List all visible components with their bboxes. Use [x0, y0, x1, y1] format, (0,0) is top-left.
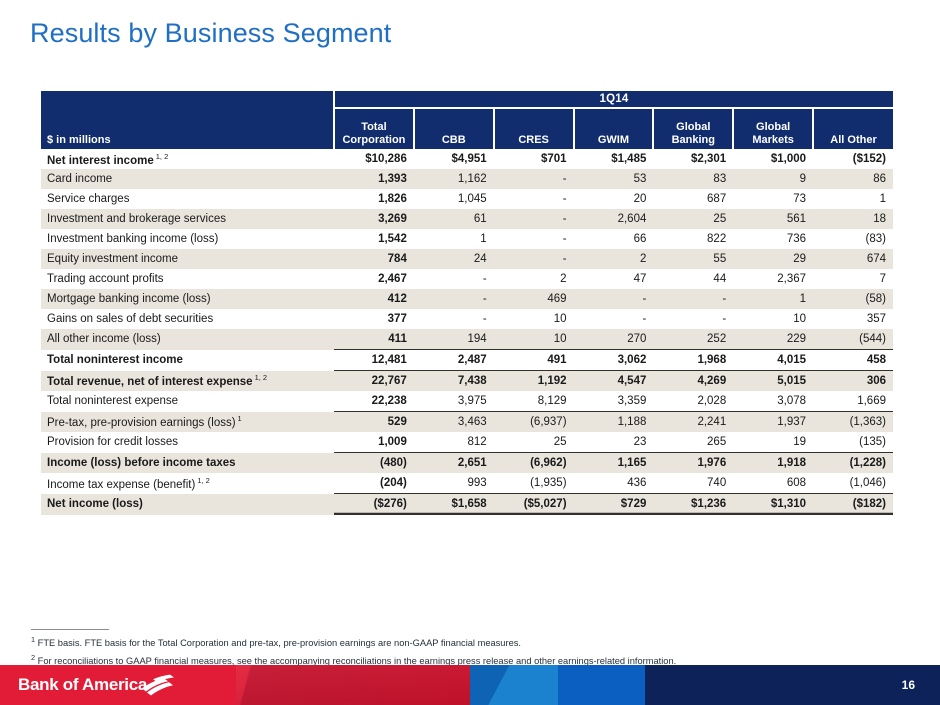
table-cell: 252: [653, 329, 733, 350]
table-cell: 2,487: [414, 350, 494, 371]
table-cell: 822: [653, 229, 733, 249]
table-row: Service charges1,8261,045-20687731: [41, 189, 893, 209]
table-cell: 3,975: [414, 391, 494, 412]
table-row: Investment banking income (loss)1,5421-6…: [41, 229, 893, 249]
table-cell: 3,269: [334, 209, 414, 229]
table-cell: 29: [733, 249, 813, 269]
row-label-footnote-marker: 1, 2: [197, 476, 210, 485]
table-cell: 19: [733, 432, 813, 453]
table-header: 1Q14 $ in millions Total Corporation CBB…: [41, 91, 893, 149]
row-label: Net income (loss): [41, 494, 334, 515]
table-cell: (544): [813, 329, 893, 350]
table-row: Trading account profits2,467-247442,3677: [41, 269, 893, 289]
table-cell: 4,269: [653, 371, 733, 392]
table-cell: 2: [574, 249, 654, 269]
table-cell: 736: [733, 229, 813, 249]
table-cell: (135): [813, 432, 893, 453]
table-row: Income (loss) before income taxes(480)2,…: [41, 453, 893, 474]
header-spacer-cell: [41, 91, 334, 108]
table-cell: ($276): [334, 494, 414, 515]
table-cell: 608: [733, 473, 813, 494]
table-cell: 25: [494, 432, 574, 453]
table-cell: ($5,027): [494, 494, 574, 515]
table-row: Total noninterest expense22,2383,9758,12…: [41, 391, 893, 412]
page-title: Results by Business Segment: [30, 18, 391, 49]
table-cell: 5,015: [733, 371, 813, 392]
bank-of-america-flagscape-icon: [140, 674, 178, 696]
table-cell: 687: [653, 189, 733, 209]
table-cell: 194: [414, 329, 494, 350]
footnote-divider: [31, 629, 109, 630]
table-header-columns-row: $ in millions Total Corporation CBB CRES…: [41, 108, 893, 149]
slide-footer: Bank of America 16: [0, 665, 940, 705]
column-header-global-markets: Global Markets: [733, 108, 813, 149]
row-label: Mortgage banking income (loss): [41, 289, 334, 309]
table-cell: 22,767: [334, 371, 414, 392]
table-cell: 357: [813, 309, 893, 329]
row-label-footnote-marker: 1, 2: [255, 373, 268, 382]
table-row: Equity investment income78424-25529674: [41, 249, 893, 269]
table-cell: 25: [653, 209, 733, 229]
table-cell: (58): [813, 289, 893, 309]
footnote-1-marker: 1: [31, 635, 35, 644]
table-cell: 7,438: [414, 371, 494, 392]
table-cell: 1: [414, 229, 494, 249]
table-cell: $1,000: [733, 149, 813, 169]
column-header-all-other: All Other: [813, 108, 893, 149]
table-cell: 12,481: [334, 350, 414, 371]
table-cell: 55: [653, 249, 733, 269]
table-cell: (1,228): [813, 453, 893, 474]
row-label: Total noninterest income: [41, 350, 334, 371]
table-cell: 1,188: [574, 412, 654, 433]
table-cell: 1,192: [494, 371, 574, 392]
table-cell: -: [574, 309, 654, 329]
table-cell: 2,467: [334, 269, 414, 289]
table-cell: -: [653, 309, 733, 329]
table-cell: 377: [334, 309, 414, 329]
column-header-cres: CRES: [494, 108, 574, 149]
table-cell: 73: [733, 189, 813, 209]
table-cell: -: [494, 249, 574, 269]
table-cell: -: [494, 189, 574, 209]
table-row: Total revenue, net of interest expense1,…: [41, 371, 893, 392]
footnote-2-marker: 2: [31, 653, 35, 662]
table-cell: $4,951: [414, 149, 494, 169]
table-cell: 1: [733, 289, 813, 309]
table-cell: 2,367: [733, 269, 813, 289]
table-cell: 1,976: [653, 453, 733, 474]
table-cell: 86: [813, 169, 893, 189]
table-cell: (1,363): [813, 412, 893, 433]
table-cell: 2,651: [414, 453, 494, 474]
table-cell: 812: [414, 432, 494, 453]
row-label: Income (loss) before income taxes: [41, 453, 334, 474]
table-cell: 674: [813, 249, 893, 269]
row-label: Total noninterest expense: [41, 391, 334, 412]
table-cell: 491: [494, 350, 574, 371]
table-cell: 3,463: [414, 412, 494, 433]
table-cell: 3,078: [733, 391, 813, 412]
table-cell: 265: [653, 432, 733, 453]
table-cell: 4,015: [733, 350, 813, 371]
table-row: Investment and brokerage services3,26961…: [41, 209, 893, 229]
table-cell: -: [414, 269, 494, 289]
table-header-period-row: 1Q14: [41, 91, 893, 108]
table-cell: (204): [334, 473, 414, 494]
footer-band-medium-blue: [558, 665, 645, 705]
table-cell: (6,937): [494, 412, 574, 433]
table-cell: $701: [494, 149, 574, 169]
table-row: Card income1,3931,162-5383986: [41, 169, 893, 189]
footer-band-navy: [645, 665, 940, 705]
segment-results-table-wrapper: 1Q14 $ in millions Total Corporation CBB…: [41, 91, 893, 515]
table-cell: 3,062: [574, 350, 654, 371]
row-label: Investment and brokerage services: [41, 209, 334, 229]
table-cell: -: [494, 229, 574, 249]
brand-wordmark: Bank of America: [18, 675, 147, 695]
table-cell: 993: [414, 473, 494, 494]
period-header: 1Q14: [334, 91, 893, 108]
row-label: Income tax expense (benefit)1, 2: [41, 473, 334, 494]
column-header-global-banking: Global Banking: [653, 108, 733, 149]
table-cell: 1,542: [334, 229, 414, 249]
row-label: Provision for credit losses: [41, 432, 334, 453]
table-cell: 7: [813, 269, 893, 289]
table-row: Net interest income1, 2$10,286$4,951$701…: [41, 149, 893, 169]
table-cell: 1,009: [334, 432, 414, 453]
table-cell: 1,826: [334, 189, 414, 209]
table-cell: 411: [334, 329, 414, 350]
table-cell: 270: [574, 329, 654, 350]
table-cell: 1,162: [414, 169, 494, 189]
table-cell: -: [494, 169, 574, 189]
table-cell: $10,286: [334, 149, 414, 169]
table-cell: $2,301: [653, 149, 733, 169]
table-cell: 61: [414, 209, 494, 229]
row-label: Total revenue, net of interest expense1,…: [41, 371, 334, 392]
table-cell: 24: [414, 249, 494, 269]
row-label: All other income (loss): [41, 329, 334, 350]
table-cell: 2,028: [653, 391, 733, 412]
row-label: Trading account profits: [41, 269, 334, 289]
row-label: Equity investment income: [41, 249, 334, 269]
table-cell: 1,045: [414, 189, 494, 209]
table-cell: 10: [494, 329, 574, 350]
table-row: Total noninterest income12,4812,4874913,…: [41, 350, 893, 371]
row-label-footnote-marker: 1, 2: [156, 152, 169, 161]
table-cell: 1,669: [813, 391, 893, 412]
table-cell: (1,935): [494, 473, 574, 494]
footer-band-light-blue-overlay: [470, 665, 558, 705]
table-cell: ($152): [813, 149, 893, 169]
table-cell: 44: [653, 269, 733, 289]
table-cell: 22,238: [334, 391, 414, 412]
table-cell: $1,658: [414, 494, 494, 515]
table-row: Mortgage banking income (loss)412-469--1…: [41, 289, 893, 309]
table-cell: 561: [733, 209, 813, 229]
table-cell: 83: [653, 169, 733, 189]
table-row: Net income (loss)($276)$1,658($5,027)$72…: [41, 494, 893, 515]
table-cell: $1,310: [733, 494, 813, 515]
table-row: Income tax expense (benefit)1, 2(204)993…: [41, 473, 893, 494]
table-cell: 1,165: [574, 453, 654, 474]
footnote-1-text: FTE basis. FTE basis for the Total Corpo…: [38, 638, 521, 648]
table-cell: 784: [334, 249, 414, 269]
table-cell: 66: [574, 229, 654, 249]
table-cell: 2: [494, 269, 574, 289]
table-row: Gains on sales of debt securities377-10-…: [41, 309, 893, 329]
table-cell: $729: [574, 494, 654, 515]
units-label: $ in millions: [41, 108, 334, 149]
table-cell: $1,236: [653, 494, 733, 515]
table-cell: -: [653, 289, 733, 309]
table-cell: 4,547: [574, 371, 654, 392]
row-label: Investment banking income (loss): [41, 229, 334, 249]
column-header-gwim: GWIM: [574, 108, 654, 149]
table-cell: $1,485: [574, 149, 654, 169]
table-cell: 306: [813, 371, 893, 392]
column-header-total-corporation: Total Corporation: [334, 108, 414, 149]
row-label: Net interest income1, 2: [41, 149, 334, 169]
table-cell: (1,046): [813, 473, 893, 494]
table-cell: -: [414, 309, 494, 329]
table-cell: 1,393: [334, 169, 414, 189]
table-cell: -: [574, 289, 654, 309]
segment-results-table: 1Q14 $ in millions Total Corporation CBB…: [41, 91, 893, 515]
table-cell: 10: [733, 309, 813, 329]
row-label: Service charges: [41, 189, 334, 209]
table-row: Pre-tax, pre-provision earnings (loss)15…: [41, 412, 893, 433]
table-cell: 458: [813, 350, 893, 371]
row-label: Pre-tax, pre-provision earnings (loss)1: [41, 412, 334, 433]
table-cell: (480): [334, 453, 414, 474]
table-row: Provision for credit losses1,00981225232…: [41, 432, 893, 453]
table-cell: 20: [574, 189, 654, 209]
table-row: All other income (loss)41119410270252229…: [41, 329, 893, 350]
table-body: Net interest income1, 2$10,286$4,951$701…: [41, 149, 893, 515]
table-cell: 10: [494, 309, 574, 329]
table-cell: 18: [813, 209, 893, 229]
row-label: Card income: [41, 169, 334, 189]
table-cell: 436: [574, 473, 654, 494]
table-cell: 8,129: [494, 391, 574, 412]
row-label-footnote-marker: 1: [238, 414, 242, 423]
table-cell: -: [414, 289, 494, 309]
table-cell: 412: [334, 289, 414, 309]
footer-band-red-overlay: [236, 665, 476, 705]
row-label: Gains on sales of debt securities: [41, 309, 334, 329]
table-cell: 47: [574, 269, 654, 289]
table-cell: 1,918: [733, 453, 813, 474]
column-header-cbb: CBB: [414, 108, 494, 149]
footnote-1: 1 FTE basis. FTE basis for the Total Cor…: [31, 633, 891, 651]
table-cell: 740: [653, 473, 733, 494]
table-cell: 229: [733, 329, 813, 350]
table-cell: 2,241: [653, 412, 733, 433]
table-cell: 1: [813, 189, 893, 209]
table-cell: 469: [494, 289, 574, 309]
table-cell: 3,359: [574, 391, 654, 412]
table-cell: (83): [813, 229, 893, 249]
footnotes: 1 FTE basis. FTE basis for the Total Cor…: [31, 629, 891, 668]
table-cell: 1,968: [653, 350, 733, 371]
table-cell: ($182): [813, 494, 893, 515]
table-cell: 2,604: [574, 209, 654, 229]
table-cell: 23: [574, 432, 654, 453]
table-cell: 1,937: [733, 412, 813, 433]
table-cell: 9: [733, 169, 813, 189]
table-cell: (6,962): [494, 453, 574, 474]
table-cell: 529: [334, 412, 414, 433]
table-cell: 53: [574, 169, 654, 189]
page-number: 16: [902, 678, 915, 692]
table-cell: -: [494, 209, 574, 229]
